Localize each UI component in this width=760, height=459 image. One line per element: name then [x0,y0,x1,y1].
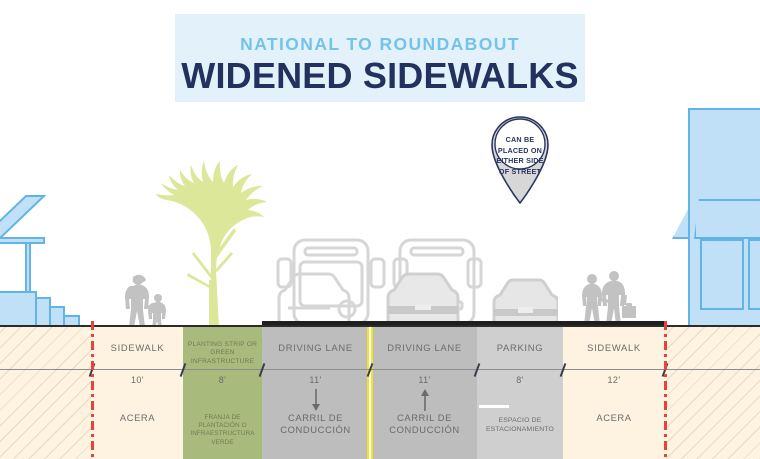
segment-sidewalk-right[interactable]: SIDEWALK 12' ACERA [563,327,665,459]
page-title: WIDENED SIDEWALKS [175,55,585,97]
segment-dimension: 12' [563,375,665,385]
parking-stall-stripe [479,405,509,408]
segment-driving-lane-left[interactable]: DRIVING LANE 11' CARRIL DE CONDUCCIÓN [262,327,369,459]
segment-driving-lane-right[interactable]: DRIVING LANE 11' CARRIL DE CONDUCCIÓN [372,327,477,459]
segment-label-es: CARRIL DE CONDUCCIÓN [372,412,477,436]
centerline-stripe-b [371,327,373,459]
segment-parking[interactable]: PARKING 8' ESPACIO DE ESTACIONAMIENTO [477,327,563,459]
property-line-left [91,321,94,459]
segment-label-en: DRIVING LANE [372,342,477,354]
segment-label-en: PARKING [477,342,563,354]
right-building-awning [694,199,760,239]
centerline-stripe-a [367,327,369,459]
segment-label-es: ACERA [92,412,183,424]
segment-label-es: FRANJA DE PLANTACIÓN O INFRAESTRUCTURA V… [183,414,262,447]
street-cross-section: SIDEWALK 10' ACERA PLANTING STRIP OR GRE… [0,327,760,459]
vehicles-left [272,232,492,332]
segment-label-en: DRIVING LANE [262,342,369,354]
map-pin-label: CAN BE PLACED ON EITHER SIDE OF STREET [489,135,551,177]
direction-arrow-up-icon [418,389,432,411]
segment-label-en: SIDEWALK [563,342,665,354]
pin-line-4: OF STREET [489,167,551,178]
infographic-root: NATIONAL TO ROUNDABOUT WIDENED SIDEWALKS… [0,0,760,459]
pin-line-3: EITHER SIDE [489,156,551,167]
segment-dimension: 10' [92,375,183,385]
segment-dimension: 8' [477,375,563,385]
property-zone-left [0,327,92,459]
segment-dimension: 11' [372,375,477,385]
segment-dimension: 8' [183,375,262,385]
header-kicker: NATIONAL TO ROUNDABOUT [175,34,585,55]
segment-label-es: ACERA [563,412,665,424]
pin-line-2: PLACED ON [489,146,551,157]
segment-sidewalk-left[interactable]: SIDEWALK 10' ACERA [92,327,183,459]
left-building [0,180,110,330]
pin-line-1: CAN BE [489,135,551,146]
right-building-window-left [700,239,744,310]
property-line-right [664,321,667,459]
pedestrian-group-left [120,272,172,330]
direction-arrow-down-icon [309,389,323,411]
segment-label-en: SIDEWALK [92,342,183,354]
segment-label-en: PLANTING STRIP OR GREEN INFRASTRUCTURE [183,341,262,366]
segment-label-es: ESPACIO DE ESTACIONAMIENTO [477,417,563,434]
right-building-window-right [748,239,760,310]
segment-planting-strip[interactable]: PLANTING STRIP OR GREEN INFRASTRUCTURE 8… [183,327,262,459]
segment-dimension: 11' [262,375,369,385]
property-zone-right [665,327,760,459]
segment-label-es: CARRIL DE CONDUCCIÓN [262,412,369,436]
dimension-rule [0,369,760,370]
